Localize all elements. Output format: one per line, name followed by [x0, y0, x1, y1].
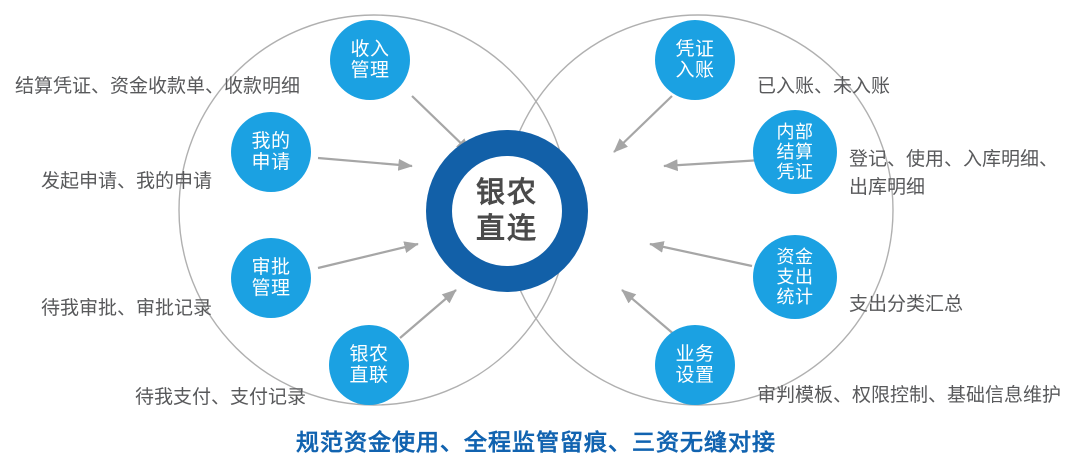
label-internal-settlement: 登记、使用、入库明细、 出库明细	[849, 117, 1072, 203]
label-expenditure-stats-text: 支出分类汇总	[849, 294, 963, 315]
label-my-application-text: 发起申请、我的申请	[41, 171, 212, 192]
center-ring: 银农 直连	[426, 130, 588, 292]
arrow-expenditure-stats	[650, 244, 752, 266]
label-my-application: 发起申请、我的申请	[20, 139, 212, 196]
arrow-approval-management	[318, 244, 418, 268]
node-my-application[interactable]: 我的 申请	[231, 112, 311, 192]
node-bank-farm-direct-label: 银农 直联	[349, 344, 388, 387]
label-bank-farm-direct-text: 待我支付、支付记录	[135, 387, 306, 408]
label-bank-farm-direct: 待我支付、支付记录	[110, 355, 306, 412]
label-voucher-entry: 已入账、未入账	[757, 44, 997, 101]
node-my-application-label: 我的 申请	[251, 131, 290, 174]
node-internal-settlement[interactable]: 内部 结算 凭证	[753, 110, 837, 194]
node-expenditure-stats-label: 资金 支出 统计	[777, 247, 814, 307]
center-title: 银农 直连	[476, 175, 538, 248]
node-internal-settlement-label: 内部 结算 凭证	[777, 122, 814, 182]
node-income-management[interactable]: 收入 管理	[330, 20, 410, 100]
node-bank-farm-direct[interactable]: 银农 直联	[329, 325, 409, 405]
node-business-settings-label: 业务 设置	[675, 344, 714, 387]
arrow-bank-farm-direct	[400, 290, 456, 338]
node-approval-management-label: 审批 管理	[251, 257, 290, 300]
diagram-stage: 银农 直连 收入 管理 我的 申请 审批 管理 银农 直联 凭证 入账 内部 结…	[0, 0, 1072, 471]
label-income-management-text: 结算凭证、资金收款单、收款明细	[15, 76, 300, 97]
label-expenditure-stats: 支出分类汇总	[849, 262, 1072, 319]
label-approval-management-text: 待我审批、审批记录	[41, 298, 212, 319]
arrow-internal-settlement	[664, 160, 762, 166]
label-income-management: 结算凭证、资金收款单、收款明细	[0, 44, 300, 101]
label-internal-settlement-text: 登记、使用、入库明细、 出库明细	[849, 149, 1058, 199]
label-business-settings-text: 审判模板、权限控制、基础信息维护	[757, 385, 1061, 406]
label-business-settings: 审判模板、权限控制、基础信息维护	[757, 353, 1072, 410]
node-business-settings[interactable]: 业务 设置	[655, 325, 735, 405]
node-voucher-entry-label: 凭证 入账	[675, 39, 714, 82]
arrow-voucher-entry	[614, 96, 672, 152]
label-voucher-entry-text: 已入账、未入账	[757, 76, 890, 97]
arrow-my-application	[318, 158, 412, 166]
node-income-management-label: 收入 管理	[350, 39, 389, 82]
center-ring-hole: 银农 直连	[452, 156, 562, 266]
label-approval-management: 待我审批、审批记录	[20, 266, 212, 323]
diagram-caption: 规范资金使用、全程监管留痕、三资无缝对接	[0, 423, 1072, 457]
node-expenditure-stats[interactable]: 资金 支出 统计	[753, 235, 837, 319]
node-voucher-entry[interactable]: 凭证 入账	[655, 20, 735, 100]
arrow-business-settings	[622, 290, 676, 336]
node-approval-management[interactable]: 审批 管理	[231, 238, 311, 318]
